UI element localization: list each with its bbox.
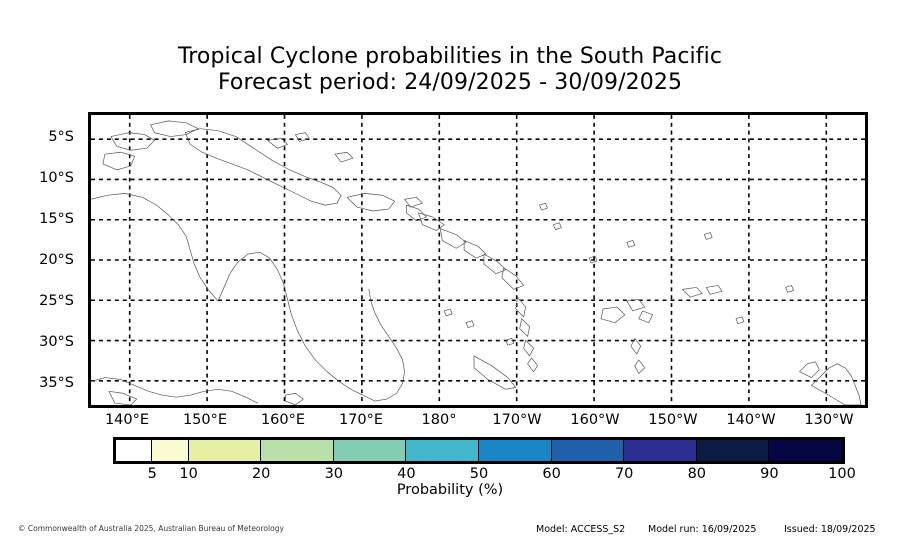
colorbar-segment xyxy=(552,440,625,461)
colorbar-segment xyxy=(769,440,842,461)
colorbar-tick-label: 100 xyxy=(828,466,856,482)
colorbar-segment xyxy=(334,440,407,461)
colorbar-segment xyxy=(261,440,334,461)
model-run: Model run: 16/09/2025 xyxy=(648,524,756,535)
colorbar-segment xyxy=(624,440,697,461)
chart-title-line2: Forecast period: 24/09/2025 - 30/09/2025 xyxy=(0,70,900,96)
latitude-tick-label: 20°S xyxy=(39,252,82,268)
colorbar-tick-label: 10 xyxy=(179,466,197,482)
latitude-tick-label: 35°S xyxy=(39,375,82,391)
longitude-tick-label: 180° xyxy=(422,412,457,428)
colorbar-segment xyxy=(152,440,188,461)
colorbar-segments xyxy=(113,437,845,464)
forecast-chart-page: Tropical Cyclone probabilities in the So… xyxy=(0,0,900,540)
longitude-tick-label: 150°W xyxy=(648,412,697,428)
longitude-tick-label: 160°W xyxy=(570,412,619,428)
colorbar-tick-label: 30 xyxy=(325,466,343,482)
colorbar-segment xyxy=(697,440,770,461)
longitude-tick-label: 140°W xyxy=(726,412,775,428)
map-canvas xyxy=(91,115,865,405)
colorbar-tick-label: 40 xyxy=(397,466,415,482)
model-name: Model: ACCESS_S2 xyxy=(536,524,625,535)
colorbar-tick-label: 80 xyxy=(688,466,706,482)
longitude-tick-label: 170°W xyxy=(492,412,541,428)
longitude-tick-label: 140°E xyxy=(105,412,149,428)
issued-date: Issued: 18/09/2025 xyxy=(784,524,876,535)
latitude-tick-label: 25°S xyxy=(39,293,82,309)
longitude-tick-label: 150°E xyxy=(183,412,227,428)
colorbar-tick-label: 60 xyxy=(542,466,560,482)
colorbar-tick-label: 5 xyxy=(148,466,157,482)
chart-title: Tropical Cyclone probabilities in the So… xyxy=(0,44,900,95)
colorbar-segment xyxy=(189,440,262,461)
colorbar-tick-label: 90 xyxy=(760,466,778,482)
latitude-tick-label: 15°S xyxy=(39,211,82,227)
copyright-notice: © Commonwealth of Australia 2025, Austra… xyxy=(18,524,284,533)
colorbar-segment xyxy=(479,440,552,461)
map-svg xyxy=(91,115,865,405)
colorbar-axis-label: Probability (%) xyxy=(0,482,900,498)
latitude-tick-label: 30°S xyxy=(39,334,82,350)
longitude-tick-label: 170°E xyxy=(339,412,383,428)
colorbar-tick-label: 70 xyxy=(615,466,633,482)
colorbar-tick-label: 20 xyxy=(252,466,270,482)
latitude-tick-label: 5°S xyxy=(48,129,82,145)
latitude-axis-labels: 5°S10°S15°S20°S25°S30°S35°S xyxy=(0,112,82,408)
colorbar-segment xyxy=(116,440,152,461)
gridlines xyxy=(91,115,865,405)
longitude-tick-label: 130°W xyxy=(804,412,853,428)
map-panel xyxy=(88,112,868,408)
longitude-tick-label: 160°E xyxy=(261,412,305,428)
latitude-tick-label: 10°S xyxy=(39,170,82,186)
probability-colorbar xyxy=(113,437,845,464)
colorbar-tick-label: 50 xyxy=(470,466,488,482)
chart-title-line1: Tropical Cyclone probabilities in the So… xyxy=(0,44,900,70)
colorbar-segment xyxy=(406,440,479,461)
longitude-axis-labels: 140°E150°E160°E170°E180°170°W160°W150°W1… xyxy=(88,412,868,434)
